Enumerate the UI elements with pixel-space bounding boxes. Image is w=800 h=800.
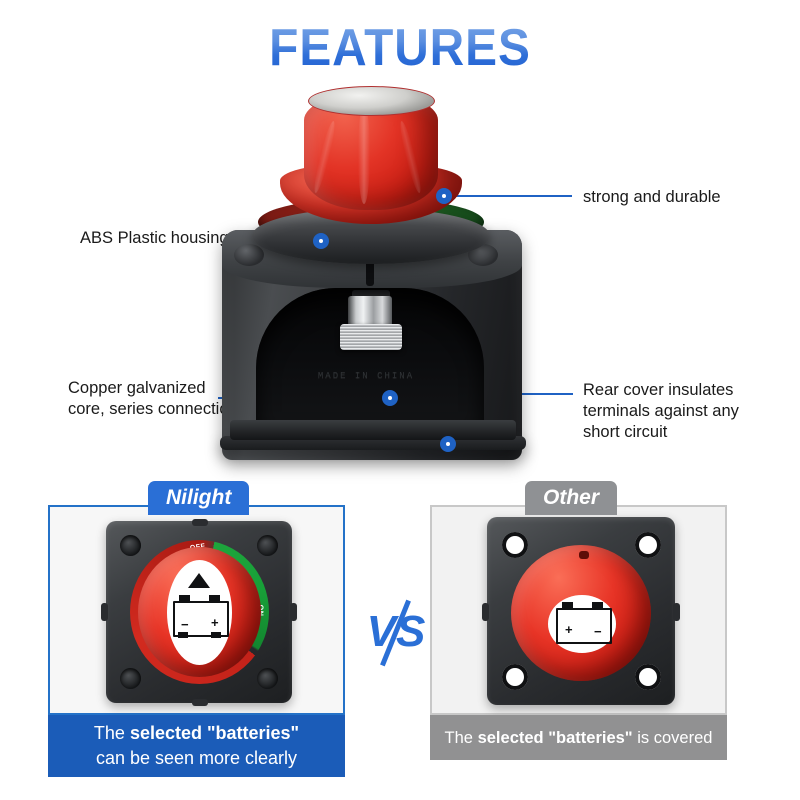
caption-other-prefix: The	[445, 729, 478, 747]
nilight-plate-nub-bottom	[192, 699, 208, 706]
features-infographic: FEATURES MADE IN CHINA ABS Plastic housi…	[0, 0, 800, 800]
comparison-panel-other: + −	[430, 505, 727, 715]
nilight-plate-nub-top	[192, 519, 208, 526]
battery-icon-nilight-terminal-right	[209, 595, 220, 602]
product-mount-ear-left	[234, 244, 264, 266]
callout-label-rear-cover: Rear cover insulates terminals against a…	[583, 380, 739, 443]
battery-negative-sign-nilight: −	[181, 619, 189, 631]
callout-dot-abs-plastic-housing	[313, 233, 329, 249]
caption-nilight-prefix: The	[94, 723, 130, 743]
product-image: MADE IN CHINA	[200, 80, 540, 480]
caption-other-suffix: is covered	[633, 729, 713, 747]
battery-icon-nilight-foot-right	[211, 632, 221, 638]
product-base-plate	[230, 420, 516, 440]
product-knob-chrome-top	[308, 86, 435, 116]
badge-other: Other	[525, 481, 617, 515]
battery-icon-other-terminal-left	[562, 602, 573, 609]
battery-positive-sign-nilight: +	[211, 617, 219, 629]
nilight-plate-nub-left	[101, 603, 108, 621]
battery-positive-sign-other: +	[565, 624, 573, 636]
other-mount-hole-tr	[635, 532, 661, 558]
other-plate-nub-left	[482, 603, 489, 621]
callout-label-strong-and-durable: strong and durable	[583, 187, 721, 208]
vs-label: VS	[360, 600, 432, 664]
knob-flute	[358, 104, 370, 204]
callout-label-abs-plastic-housing: ABS Plastic housing	[80, 228, 229, 249]
caption-nilight-line2: can be seen more clearly	[96, 748, 297, 768]
other-mount-hole-tl	[502, 532, 528, 558]
callout-dot-copper-core	[382, 390, 398, 406]
other-mount-hole-br	[635, 664, 661, 690]
callout-dot-rear-cover	[440, 436, 456, 452]
nilight-mount-hole-tl	[120, 535, 141, 556]
callout-dot-strong-and-durable	[436, 188, 452, 204]
copper-terminal-nut	[340, 324, 402, 350]
comparison-panel-nilight: OFF ON − +	[48, 505, 345, 715]
caption-other: The selected "batteries" is covered	[430, 715, 727, 760]
caption-nilight: The selected "batteries" can be seen mor…	[48, 715, 345, 777]
nilight-pointer-triangle	[188, 573, 210, 588]
other-knob-indicator-mark	[579, 551, 589, 559]
nilight-mount-hole-bl	[120, 668, 141, 689]
other-plate-nub-right	[673, 603, 680, 621]
badge-nilight: Nilight	[148, 481, 249, 515]
other-mount-hole-bl	[502, 664, 528, 690]
battery-icon-nilight-foot-left	[178, 632, 188, 638]
nilight-mount-hole-tr	[257, 535, 278, 556]
nilight-plate-nub-right	[290, 603, 297, 621]
vs-divider: VS	[360, 600, 432, 664]
battery-icon-other-terminal-right	[592, 602, 603, 609]
battery-icon-nilight-terminal-left	[179, 595, 190, 602]
product-embossed-text: MADE IN CHINA	[266, 370, 466, 382]
caption-nilight-bold: selected "batteries"	[130, 723, 299, 743]
page-title: FEATURES	[32, 18, 768, 78]
callout-label-copper-core: Copper galvanized core, series connectio…	[68, 378, 238, 420]
caption-other-bold: selected "batteries"	[478, 729, 633, 747]
nilight-mount-hole-br	[257, 668, 278, 689]
battery-negative-sign-other: −	[594, 626, 602, 638]
callout-leader-strong-and-durable	[450, 195, 572, 197]
